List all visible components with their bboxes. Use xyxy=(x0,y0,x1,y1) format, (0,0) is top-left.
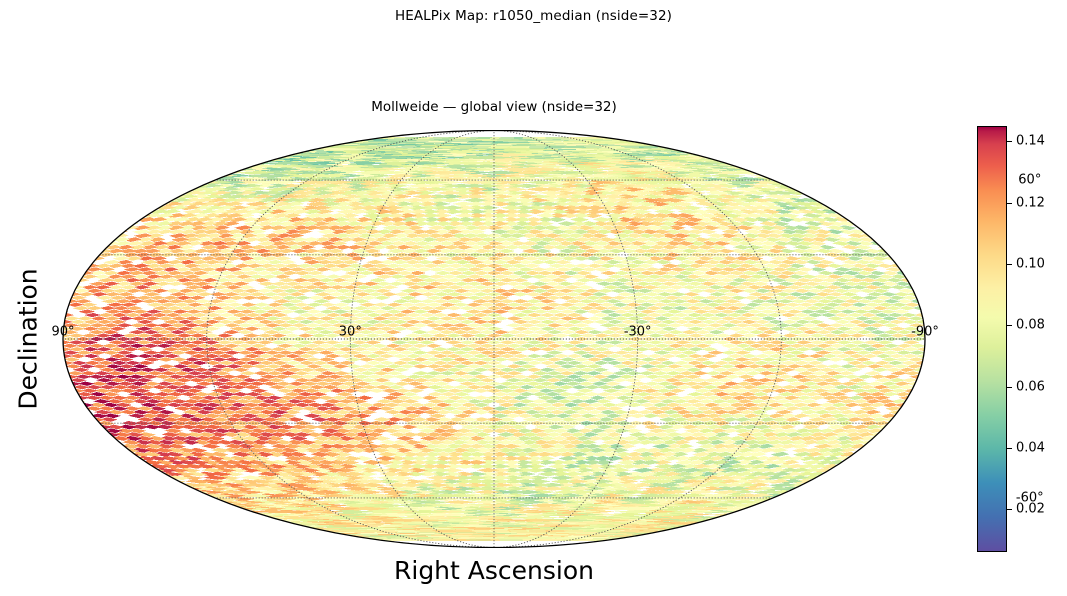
mollweide-map: -150°-90°-30°30°90°150°-60°-30°0°30°60° xyxy=(62,130,926,548)
colorbar-tick-label: 0.10 xyxy=(1016,256,1045,271)
colorbar-tick xyxy=(1007,141,1012,142)
ra-tick-label: -30° xyxy=(624,325,652,340)
ra-tick-label: 90° xyxy=(51,325,74,340)
colorbar-tick xyxy=(1007,325,1012,326)
figure-suptitle: HEALPix Map: r1050_median (nside=32) xyxy=(0,8,1067,24)
axes-title: Mollweide — global view (nside=32) xyxy=(62,99,926,115)
colorbar-gradient xyxy=(977,126,1007,552)
colorbar-tick-label: 0.04 xyxy=(1016,440,1045,455)
colorbar-tick xyxy=(1007,264,1012,265)
x-axis-label: Right Ascension xyxy=(62,556,926,585)
colorbar-tick-label: 0.02 xyxy=(1016,502,1045,517)
figure-canvas: HEALPix Map: r1050_median (nside=32) Mol… xyxy=(0,0,1067,596)
colorbar[interactable]: 0.140.120.100.080.060.040.02 xyxy=(977,126,1007,552)
colorbar-tick-label: 0.08 xyxy=(1016,318,1045,333)
ra-tick-label: 30° xyxy=(339,325,362,340)
colorbar-tick-label: 0.12 xyxy=(1016,195,1045,210)
colorbar-tick xyxy=(1007,387,1012,388)
colorbar-tick xyxy=(1007,203,1012,204)
colorbar-tick-label: 0.06 xyxy=(1016,379,1045,394)
colorbar-tick xyxy=(1007,448,1012,449)
dec-tick-label: 60° xyxy=(1018,173,1041,188)
ra-tick-label: -90° xyxy=(911,325,939,340)
colorbar-tick xyxy=(1007,509,1012,510)
colorbar-tick-label: 0.14 xyxy=(1016,134,1045,149)
y-axis-label: Declination xyxy=(14,229,43,449)
healpix-sky-map xyxy=(62,130,926,548)
